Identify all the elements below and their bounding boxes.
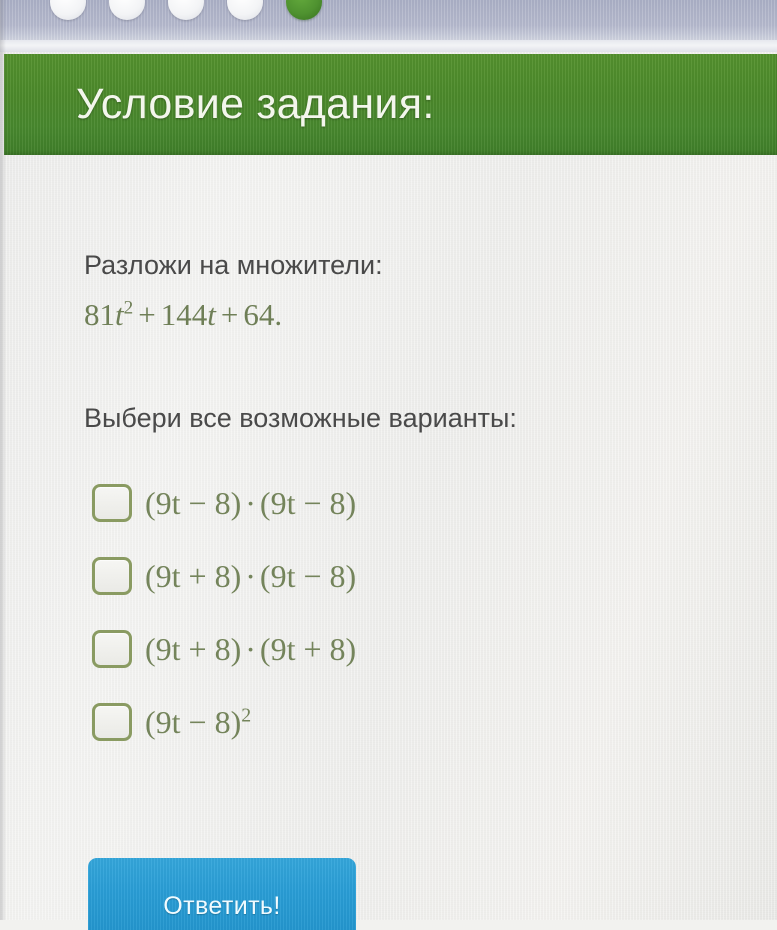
option-2-left-factor: (9t + 8) (145, 558, 241, 594)
checkbox-icon-option-1[interactable] (92, 484, 132, 522)
expression-term-2: 144t (161, 297, 216, 332)
task-prompt: Разложи на множители: (84, 250, 383, 281)
progress-step-3[interactable] (168, 0, 204, 20)
option-3-right-factor: (9t + 8) (260, 631, 356, 667)
option-3-operator: · (241, 631, 260, 667)
task-banner: Условие задания: (4, 54, 777, 155)
option-row-2[interactable]: (9t + 8)·(9t − 8) (92, 548, 356, 604)
option-row-4[interactable]: (9t − 8)2 (92, 694, 356, 750)
expression-plus-1: + (133, 297, 160, 332)
option-4-left-factor: (9t − 8) (145, 704, 241, 740)
option-row-1[interactable]: (9t − 8)·(9t − 8) (92, 475, 356, 531)
option-1-left-factor: (9t − 8) (145, 485, 241, 521)
progress-step-5-current[interactable] (286, 0, 322, 20)
option-4-exponent: 2 (241, 704, 251, 726)
option-label-4: (9t − 8)2 (145, 704, 251, 741)
expression-term-3: 64 (243, 297, 274, 332)
progress-steps (50, 0, 322, 20)
option-2-right-factor: (9t − 8) (260, 558, 356, 594)
option-1-right-factor: (9t − 8) (260, 485, 356, 521)
option-1-operator: · (241, 485, 260, 521)
submit-answer-button[interactable]: Ответить! (88, 858, 356, 930)
option-2-operator: · (241, 558, 260, 594)
answer-options: (9t − 8)·(9t − 8) (9t + 8)·(9t − 8) (9t … (92, 475, 356, 767)
topbar-seam (0, 40, 777, 52)
option-label-3: (9t + 8)·(9t + 8) (145, 631, 356, 668)
option-label-1: (9t − 8)·(9t − 8) (145, 485, 356, 522)
expression-term-1: 81t2 (84, 297, 133, 332)
option-label-2: (9t + 8)·(9t − 8) (145, 558, 356, 595)
progress-step-2[interactable] (109, 0, 145, 20)
progress-step-4[interactable] (227, 0, 263, 20)
expression-period: . (274, 297, 282, 332)
task-expression: 81t2+144t+64. (84, 297, 282, 333)
progress-step-1[interactable] (50, 0, 86, 20)
checkbox-icon-option-3[interactable] (92, 630, 132, 668)
expression-plus-2: + (216, 297, 243, 332)
checkbox-icon-option-2[interactable] (92, 557, 132, 595)
option-3-left-factor: (9t + 8) (145, 631, 241, 667)
option-row-3[interactable]: (9t + 8)·(9t + 8) (92, 621, 356, 677)
checkbox-icon-option-4[interactable] (92, 703, 132, 741)
task-instruction: Выбери все возможные варианты: (84, 403, 517, 434)
page-title: Условие задания: (76, 80, 435, 129)
